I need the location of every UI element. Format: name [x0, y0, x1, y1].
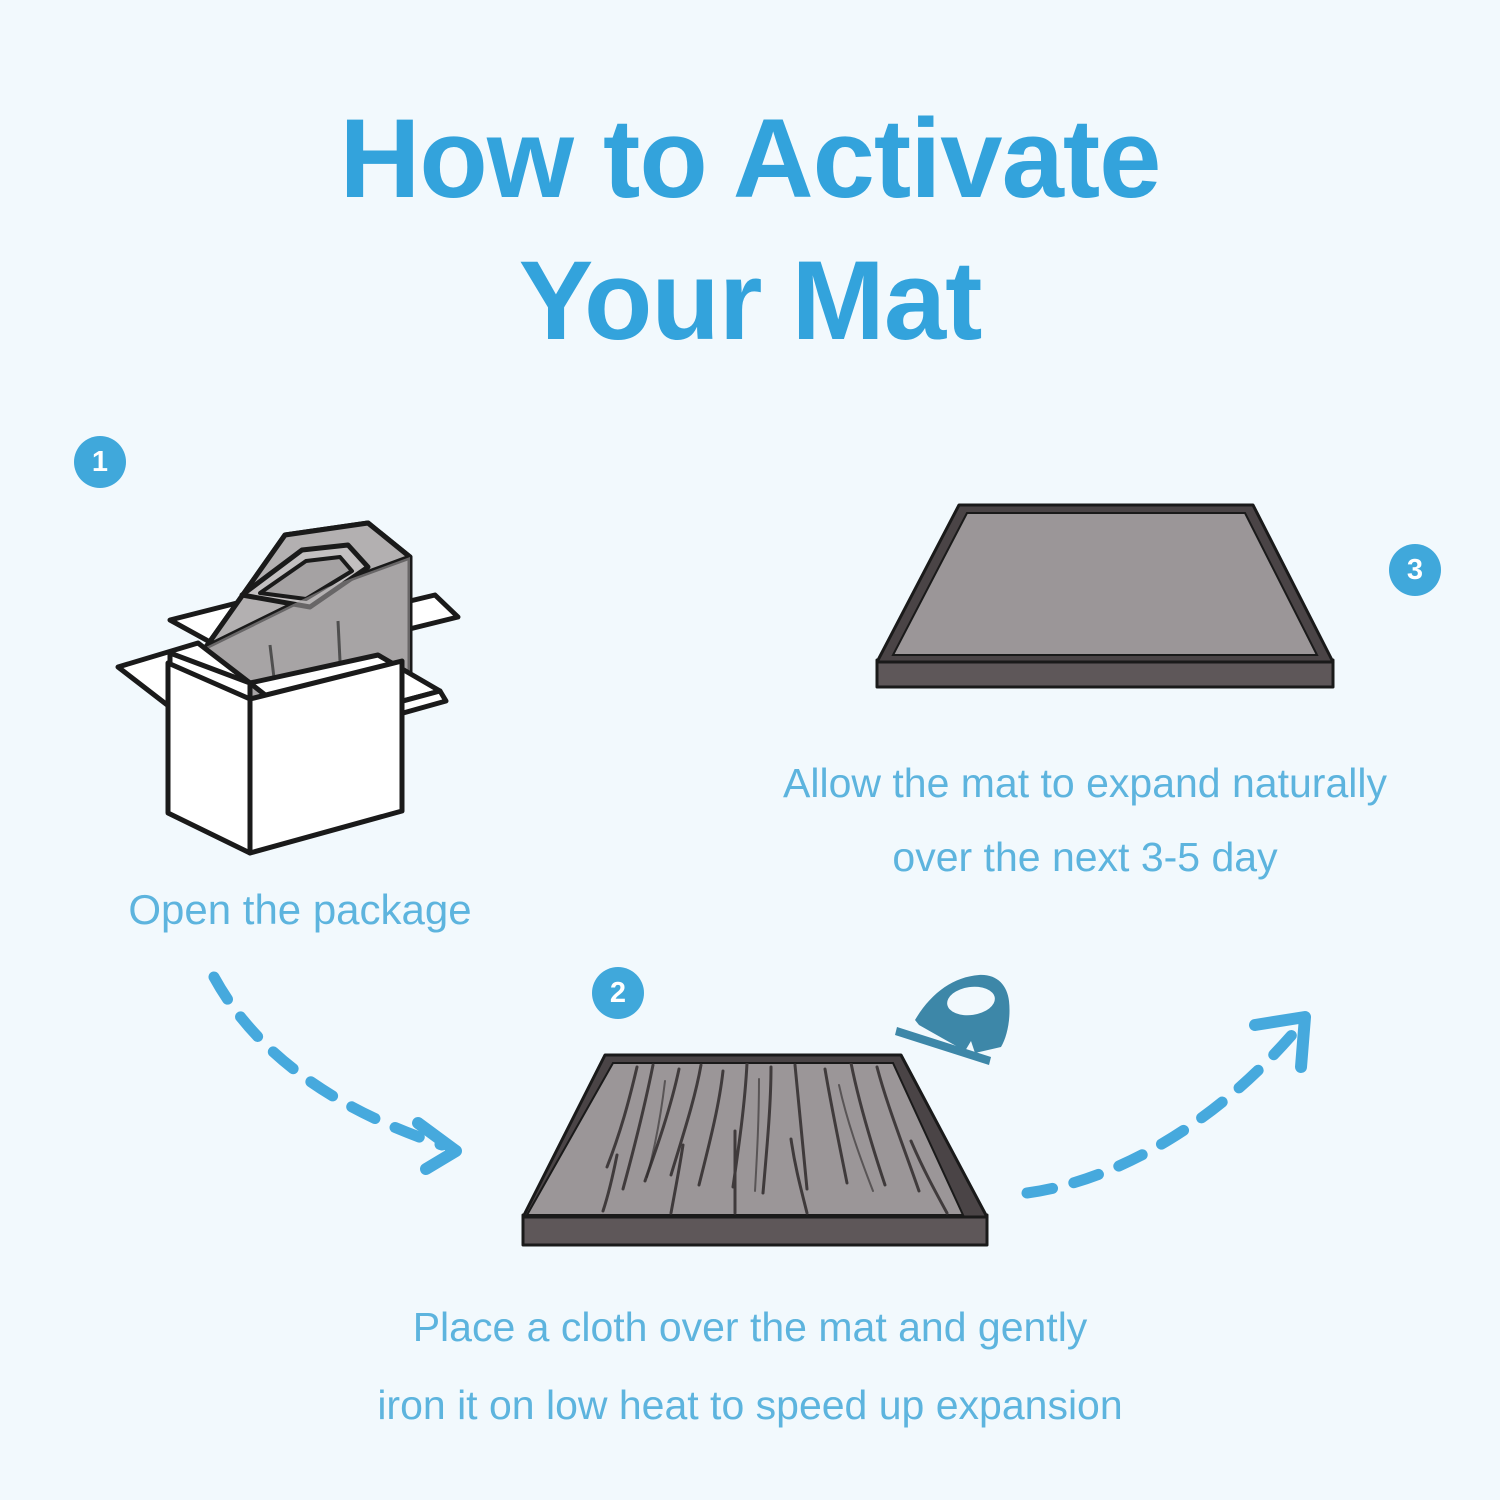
how-to-activate-mat-infographic: How to Activate Your Mat 1	[0, 0, 1500, 1500]
page-title: How to Activate Your Mat	[0, 88, 1500, 372]
step-badge-2: 2	[592, 967, 644, 1019]
step-3-caption-line-1: Allow the mat to expand naturally	[690, 746, 1480, 820]
dashed-arrow-down-right-icon	[180, 955, 510, 1205]
page-title-line-2: Your Mat	[0, 230, 1500, 372]
step-2-caption-line-1: Place a cloth over the mat and gently	[250, 1288, 1250, 1366]
step-2-caption: Place a cloth over the mat and gently ir…	[250, 1288, 1250, 1444]
step-badge-1: 1	[74, 436, 126, 488]
step-2-caption-line-2: iron it on low heat to speed up expansio…	[250, 1366, 1250, 1444]
flat-mat-icon	[855, 475, 1355, 710]
step-badge-3: 3	[1389, 544, 1441, 596]
page-title-line-1: How to Activate	[0, 88, 1500, 230]
step-3-caption-line-2: over the next 3-5 day	[690, 820, 1480, 894]
step-3-caption: Allow the mat to expand naturally over t…	[690, 746, 1480, 894]
dashed-arrow-up-right-icon	[1005, 995, 1350, 1235]
cardboard-box-icon	[110, 495, 490, 870]
step-1-caption: Open the package	[20, 882, 580, 938]
